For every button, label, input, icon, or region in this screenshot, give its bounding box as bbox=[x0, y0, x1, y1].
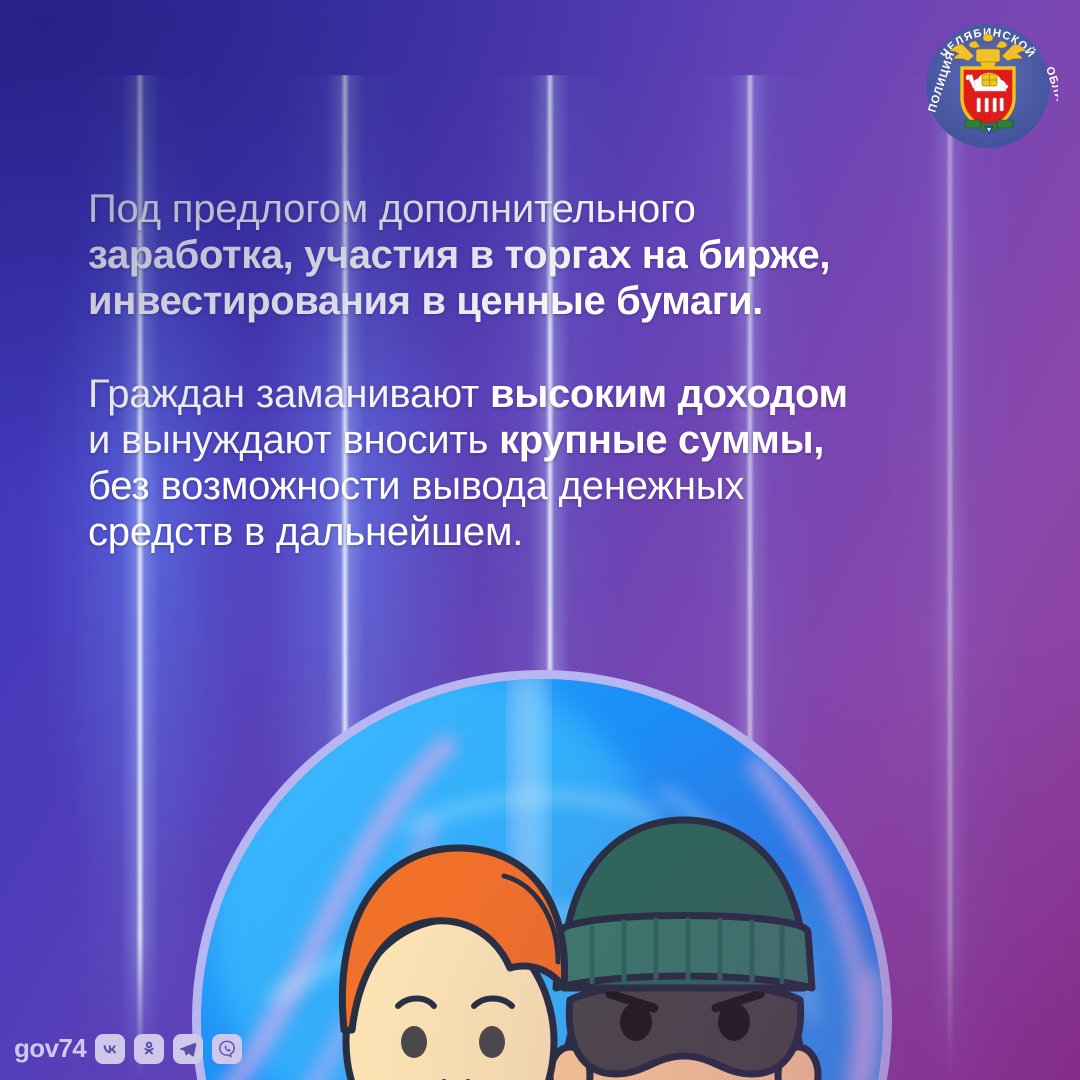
brand-gov74: gov74 bbox=[14, 1033, 86, 1064]
paragraph-2: Граждан заманивают высоким доходом и вын… bbox=[88, 371, 1008, 556]
police-emblem: ЧЕЛЯБИНСКОЙ ПОЛИЦИЯ ОБЛАСТИ bbox=[918, 16, 1058, 156]
paragraph-1: Под предлогом дополнительного заработка,… bbox=[88, 186, 1008, 325]
emblem-camel-pack bbox=[982, 74, 997, 86]
body-text: средств в дальнейшем. bbox=[88, 510, 523, 554]
illustration-circle bbox=[192, 670, 892, 1080]
ok-icon[interactable] bbox=[134, 1034, 164, 1064]
poster-canvas: ЧЕЛЯБИНСКОЙ ПОЛИЦИЯ ОБЛАСТИ bbox=[0, 0, 1080, 1080]
p1-line-2: заработка, участия в торгах на бирже, bbox=[88, 232, 1008, 278]
emphasis-text: заработка, участия в торгах на бирже, bbox=[88, 233, 830, 277]
body-text: и вынуждают вносить bbox=[88, 418, 499, 462]
body-text: Под предлогом дополнительного bbox=[88, 187, 696, 231]
p1-line-3: инвестирования в ценные бумаги. bbox=[88, 278, 1008, 324]
emphasis-text: крупные суммы, bbox=[499, 418, 824, 462]
emphasis-text: высоким доходом bbox=[490, 372, 848, 416]
body-text: без возможности вывода денежных bbox=[88, 464, 744, 508]
p2-line-4: средств в дальнейшем. bbox=[88, 509, 1008, 555]
emphasis-text: инвестирования в ценные бумаги. bbox=[88, 279, 763, 323]
viber-icon[interactable] bbox=[212, 1034, 242, 1064]
body-text: Граждан заманивают bbox=[88, 372, 490, 416]
characters-illustration bbox=[192, 670, 892, 1080]
p1-line-1: Под предлогом дополнительного bbox=[88, 186, 1008, 232]
p2-line-3: без возможности вывода денежных bbox=[88, 463, 1008, 509]
footer-brand: gov74 bbox=[14, 1033, 242, 1064]
message-copy: Под предлогом дополнительного заработка,… bbox=[88, 186, 1008, 555]
p2-line-2: и вынуждают вносить крупные суммы, bbox=[88, 417, 1008, 463]
vk-icon[interactable] bbox=[95, 1034, 125, 1064]
p2-line-1: Граждан заманивают высоким доходом bbox=[88, 371, 1008, 417]
telegram-icon[interactable] bbox=[173, 1034, 203, 1064]
